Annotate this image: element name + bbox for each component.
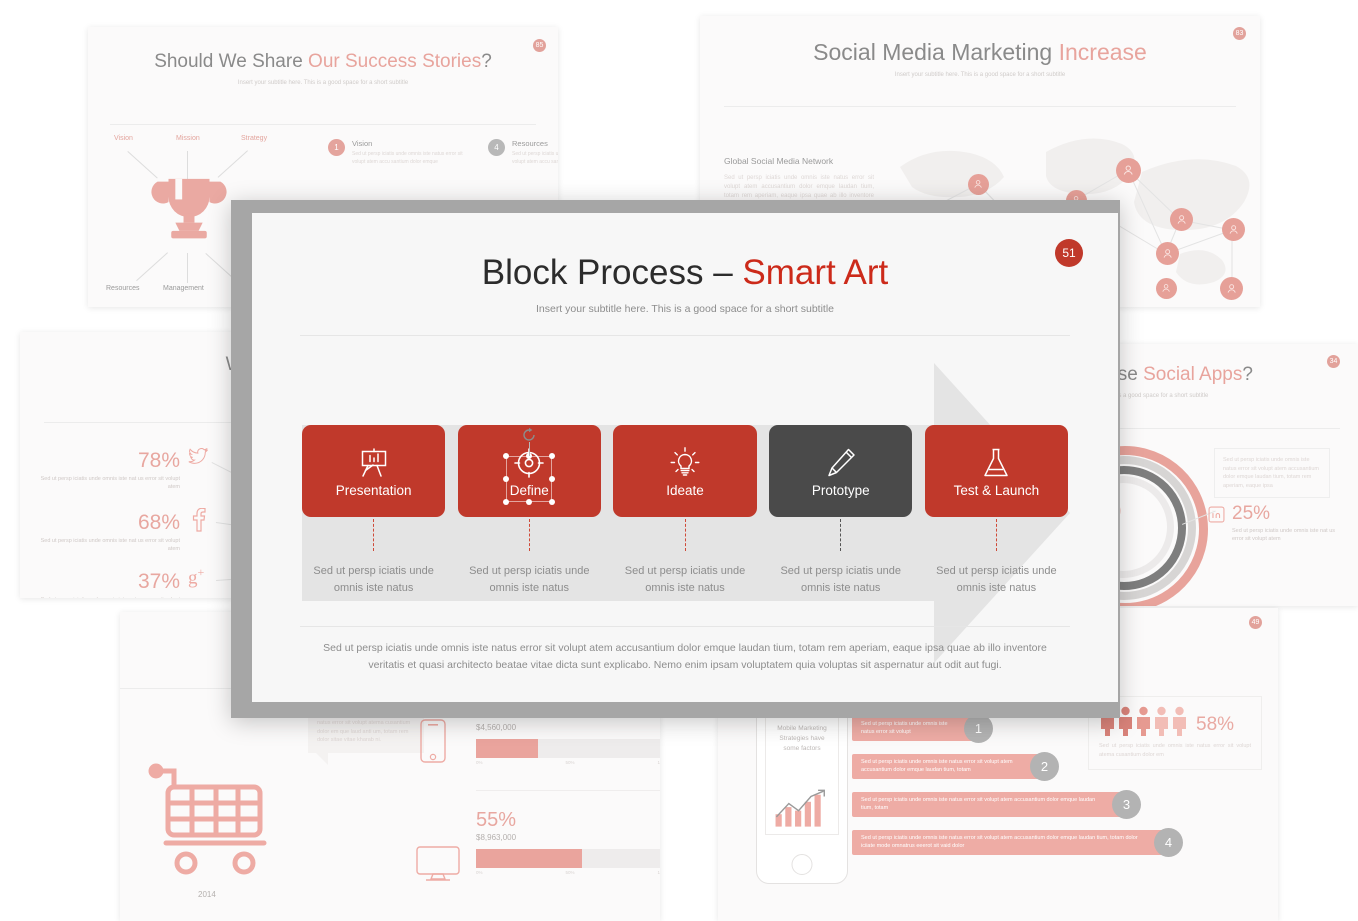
presentation-board-icon (357, 445, 391, 481)
s5-row-mobile-ticks: 0%50%100% (476, 760, 660, 765)
s4-page-badge: 34 (1327, 355, 1340, 368)
main-subtitle: Insert your subtitle here. This is a goo… (252, 303, 1118, 315)
s1-item-4[interactable]: 4 Resources Sed ut persp iciatis unde om… (488, 139, 558, 166)
linkedin-icon[interactable] (1208, 506, 1225, 528)
s2-network-node (1156, 242, 1179, 265)
connector-dashed-line (685, 519, 686, 551)
s1-item-4-number: 4 (488, 139, 505, 156)
connector-dashed-line-dark (840, 519, 841, 551)
resize-handle-nw[interactable] (503, 453, 509, 459)
growth-chart-icon (772, 786, 834, 830)
s2-network-node (968, 174, 989, 195)
s6-bar-2-text: Sed ut persp iciatis unde omnis iste nat… (852, 759, 1048, 775)
s1-item-1-number: 1 (328, 139, 345, 156)
pencil-icon (824, 445, 858, 481)
process-block-prototype-label: Prototype (812, 483, 870, 498)
s5-row-desktop[interactable]: 55% $8,963,000 0%50%100% (476, 810, 660, 875)
process-block-prototype[interactable]: Prototype (769, 425, 912, 517)
process-caption-cell: Sed ut persp iciatis unde omnis iste nat… (925, 519, 1068, 629)
s6-phone-screen: Mobile Marketing Strategies have some fa… (765, 715, 839, 835)
s4-stat-linkedin-value: 25% (1232, 504, 1342, 523)
s3-stat-facebook-body: Sed ut persp iciatis unde omnis iste nat… (30, 537, 180, 554)
s2-title: Social Media Marketing Increase (700, 39, 1260, 66)
s3-stat-googleplus[interactable]: 37% Sed ut persp iciatis unde omnis iste… (30, 571, 180, 598)
s6-bar-4-text: Sed ut persp iciatis unde omnis iste nat… (852, 835, 1172, 851)
s6-bar-2-number: 2 (1030, 752, 1059, 781)
s6-page-badge: 49 (1249, 616, 1262, 629)
s1-label-mission: Mission (176, 135, 200, 142)
resize-handle-e[interactable] (549, 476, 555, 482)
s3-stat-twitter[interactable]: 78% Sed ut persp iciatis unde omnis iste… (30, 450, 180, 492)
s1-label-strategy: Strategy (241, 135, 267, 142)
background-slide-social-apps[interactable]: Use Social Apps? This is a good space fo… (1086, 344, 1358, 606)
process-caption-presentation: Sed ut persp iciatis unde omnis iste nat… (306, 563, 441, 596)
s6-people-stat-value: 58% (1196, 714, 1234, 736)
s6-people-icons: 58% (1099, 706, 1251, 736)
s2-network-node (1116, 158, 1141, 183)
process-caption-test-launch: Sed ut persp iciatis unde omnis iste nat… (929, 563, 1064, 596)
s4-subtitle: This is a good space for a short subtitl… (1104, 393, 1358, 399)
s2-section-title: Global Social Media Network (724, 156, 874, 166)
desktop-icon (416, 846, 460, 882)
facebook-icon[interactable] (192, 508, 206, 536)
s1-item-4-body: Sed ut persp iciatis unde omnis iste nat… (512, 151, 558, 166)
person-icon (1135, 706, 1152, 736)
process-block-test-launch[interactable]: Test & Launch (925, 425, 1068, 517)
process-block-define[interactable]: Define (458, 425, 601, 517)
process-block-ideate[interactable]: Ideate (613, 425, 756, 517)
twitter-icon[interactable] (188, 448, 208, 470)
s6-bar-4[interactable]: Sed ut persp iciatis unde omnis iste nat… (852, 830, 1172, 855)
s2-network-node (1222, 218, 1245, 241)
s3-stat-facebook[interactable]: 68% Sed ut persp iciatis unde omnis iste… (30, 512, 180, 554)
process-block-presentation[interactable]: Presentation (302, 425, 445, 517)
process-caption-cell: Sed ut persp iciatis unde omnis iste nat… (458, 519, 601, 629)
s1-item-4-title: Resources (512, 139, 558, 148)
resize-handle-w[interactable] (503, 476, 509, 482)
s6-bar-3-text: Sed ut persp iciatis unde omnis iste nat… (852, 797, 1130, 813)
s1-subtitle: Insert your subtitle here. This is a goo… (88, 80, 558, 86)
s6-phone-caption: Mobile Marketing Strategies have some fa… (766, 716, 838, 753)
s4-note-box: Sed ut persp iciatis unde omnis iste nat… (1214, 448, 1330, 498)
s5-row-mobile-bar (476, 739, 660, 758)
s1-title: Should We Share Our Success Stories? (88, 51, 558, 73)
process-block-presentation-label: Presentation (336, 483, 412, 498)
connector-dashed-line (373, 519, 374, 551)
s6-phone-mockup: Mobile Marketing Strategies have some fa… (756, 692, 848, 884)
process-block-ideate-label: Ideate (666, 483, 704, 498)
lightbulb-icon (668, 445, 702, 481)
s1-divider (110, 124, 536, 125)
main-title: Block Process – Smart Art (252, 253, 1118, 293)
s1-page-badge: 85 (533, 39, 546, 52)
resize-handle-s[interactable] (526, 499, 532, 505)
resize-handle-se[interactable] (549, 499, 555, 505)
s3-stat-twitter-body: Sed ut persp iciatis unde omnis iste nat… (30, 475, 180, 492)
s2-page-badge: 83 (1233, 27, 1246, 40)
process-caption-cell: Sed ut persp iciatis unde omnis iste nat… (613, 519, 756, 629)
s1-label-vision: Vision (114, 135, 133, 142)
s5-row-desktop-bar (476, 849, 660, 868)
selection-bounding-box (506, 456, 552, 502)
process-caption-cell: Sed ut persp iciatis unde omnis iste nat… (769, 519, 912, 629)
person-icon (1153, 706, 1170, 736)
s2-divider (724, 106, 1236, 107)
s6-bar-1-text: Sed ut persp iciatis unde omnis iste nat… (852, 721, 982, 737)
main-title-accent: Smart Art (742, 253, 888, 292)
s6-bar-4-number: 4 (1154, 828, 1183, 857)
process-block-test-launch-label: Test & Launch (954, 483, 1040, 498)
s6-bar-2[interactable]: Sed ut persp iciatis unde omnis iste nat… (852, 754, 1048, 779)
s1-item-1[interactable]: 1 Vision Sed ut persp iciatis unde omnis… (328, 139, 476, 166)
s5-row-desktop-pct: 55% (476, 810, 660, 830)
s4-divider (1086, 428, 1340, 429)
s6-bar-3[interactable]: Sed ut persp iciatis unde omnis iste nat… (852, 792, 1130, 817)
process-caption-row: Sed ut persp iciatis unde omnis iste nat… (302, 519, 1068, 629)
slide-deck-canvas: Should We Share Our Success Stories? Ins… (0, 0, 1358, 921)
s3-stat-facebook-value: 68% (30, 512, 180, 533)
main-divider-top (300, 335, 1070, 336)
s4-stat-linkedin-body: Sed ut persp iciatis unde omnis iste nat… (1232, 527, 1342, 544)
s6-bar-1-number: 1 (964, 714, 993, 743)
shopping-cart-icon (148, 762, 278, 884)
googleplus-icon[interactable]: g+ (188, 566, 204, 587)
s6-bar-3-number: 3 (1112, 790, 1141, 819)
main-slide[interactable]: 51 Block Process – Smart Art Insert your… (252, 213, 1118, 702)
s1-item-1-body: Sed ut persp iciatis unde omnis iste nat… (352, 151, 476, 166)
mobile-icon (420, 718, 446, 764)
trophy-icon (148, 163, 230, 255)
s1-label-management: Management (163, 285, 204, 292)
target-icon (512, 445, 546, 481)
s3-stat-googleplus-body: Sed ut persp iciatis unde omnis iste nat… (30, 596, 180, 598)
s2-network-node (1156, 278, 1177, 299)
person-icon (1171, 706, 1188, 736)
rotation-stem (529, 442, 530, 456)
s1-item-1-title: Vision (352, 139, 476, 148)
s2-network-node (1170, 208, 1193, 231)
connector-dashed-line (529, 519, 530, 551)
s4-stat-linkedin[interactable]: 25% Sed ut persp iciatis unde omnis iste… (1232, 504, 1342, 544)
process-caption-prototype: Sed ut persp iciatis unde omnis iste nat… (773, 563, 908, 596)
main-divider-bottom (300, 626, 1070, 627)
s6-bar-1[interactable]: Sed ut persp iciatis unde omnis iste nat… (852, 716, 982, 741)
s6-phone-home-button[interactable] (792, 854, 813, 875)
resize-handle-ne[interactable] (549, 453, 555, 459)
s5-row-separator (476, 790, 660, 791)
rotate-handle[interactable] (521, 427, 537, 443)
process-caption-ideate: Sed ut persp iciatis unde omnis iste nat… (618, 563, 753, 596)
s4-title: Use Social Apps? (1104, 364, 1358, 386)
s3-stat-googleplus-value: 37% (30, 571, 180, 592)
process-caption-cell: Sed ut persp iciatis unde omnis iste nat… (302, 519, 445, 629)
s6-people-stat-body: Sed ut persp iciatis unde omnis iste nat… (1099, 742, 1251, 760)
s5-row-mobile-amount: $4,560,000 (476, 723, 660, 732)
s2-network-node (1220, 277, 1243, 300)
main-footer-paragraph: Sed ut persp iciatis unde omnis iste nat… (312, 640, 1058, 675)
resize-handle-sw[interactable] (503, 499, 509, 505)
flask-icon (979, 445, 1013, 481)
s5-row-desktop-ticks: 0%50%100% (476, 870, 660, 875)
process-block-row: Presentation (302, 425, 1068, 517)
connector-dashed-line (996, 519, 997, 551)
main-title-dark: Block Process – (482, 253, 743, 292)
s1-label-resources: Resources (106, 285, 139, 292)
s3-stat-twitter-value: 78% (30, 450, 180, 471)
s5-row-desktop-amount: $8,963,000 (476, 833, 660, 842)
s5-year-label: 2014 (198, 890, 216, 899)
s2-subtitle: Insert your subtitle here. This is a goo… (700, 72, 1260, 78)
process-caption-define: Sed ut persp iciatis unde omnis iste nat… (462, 563, 597, 596)
